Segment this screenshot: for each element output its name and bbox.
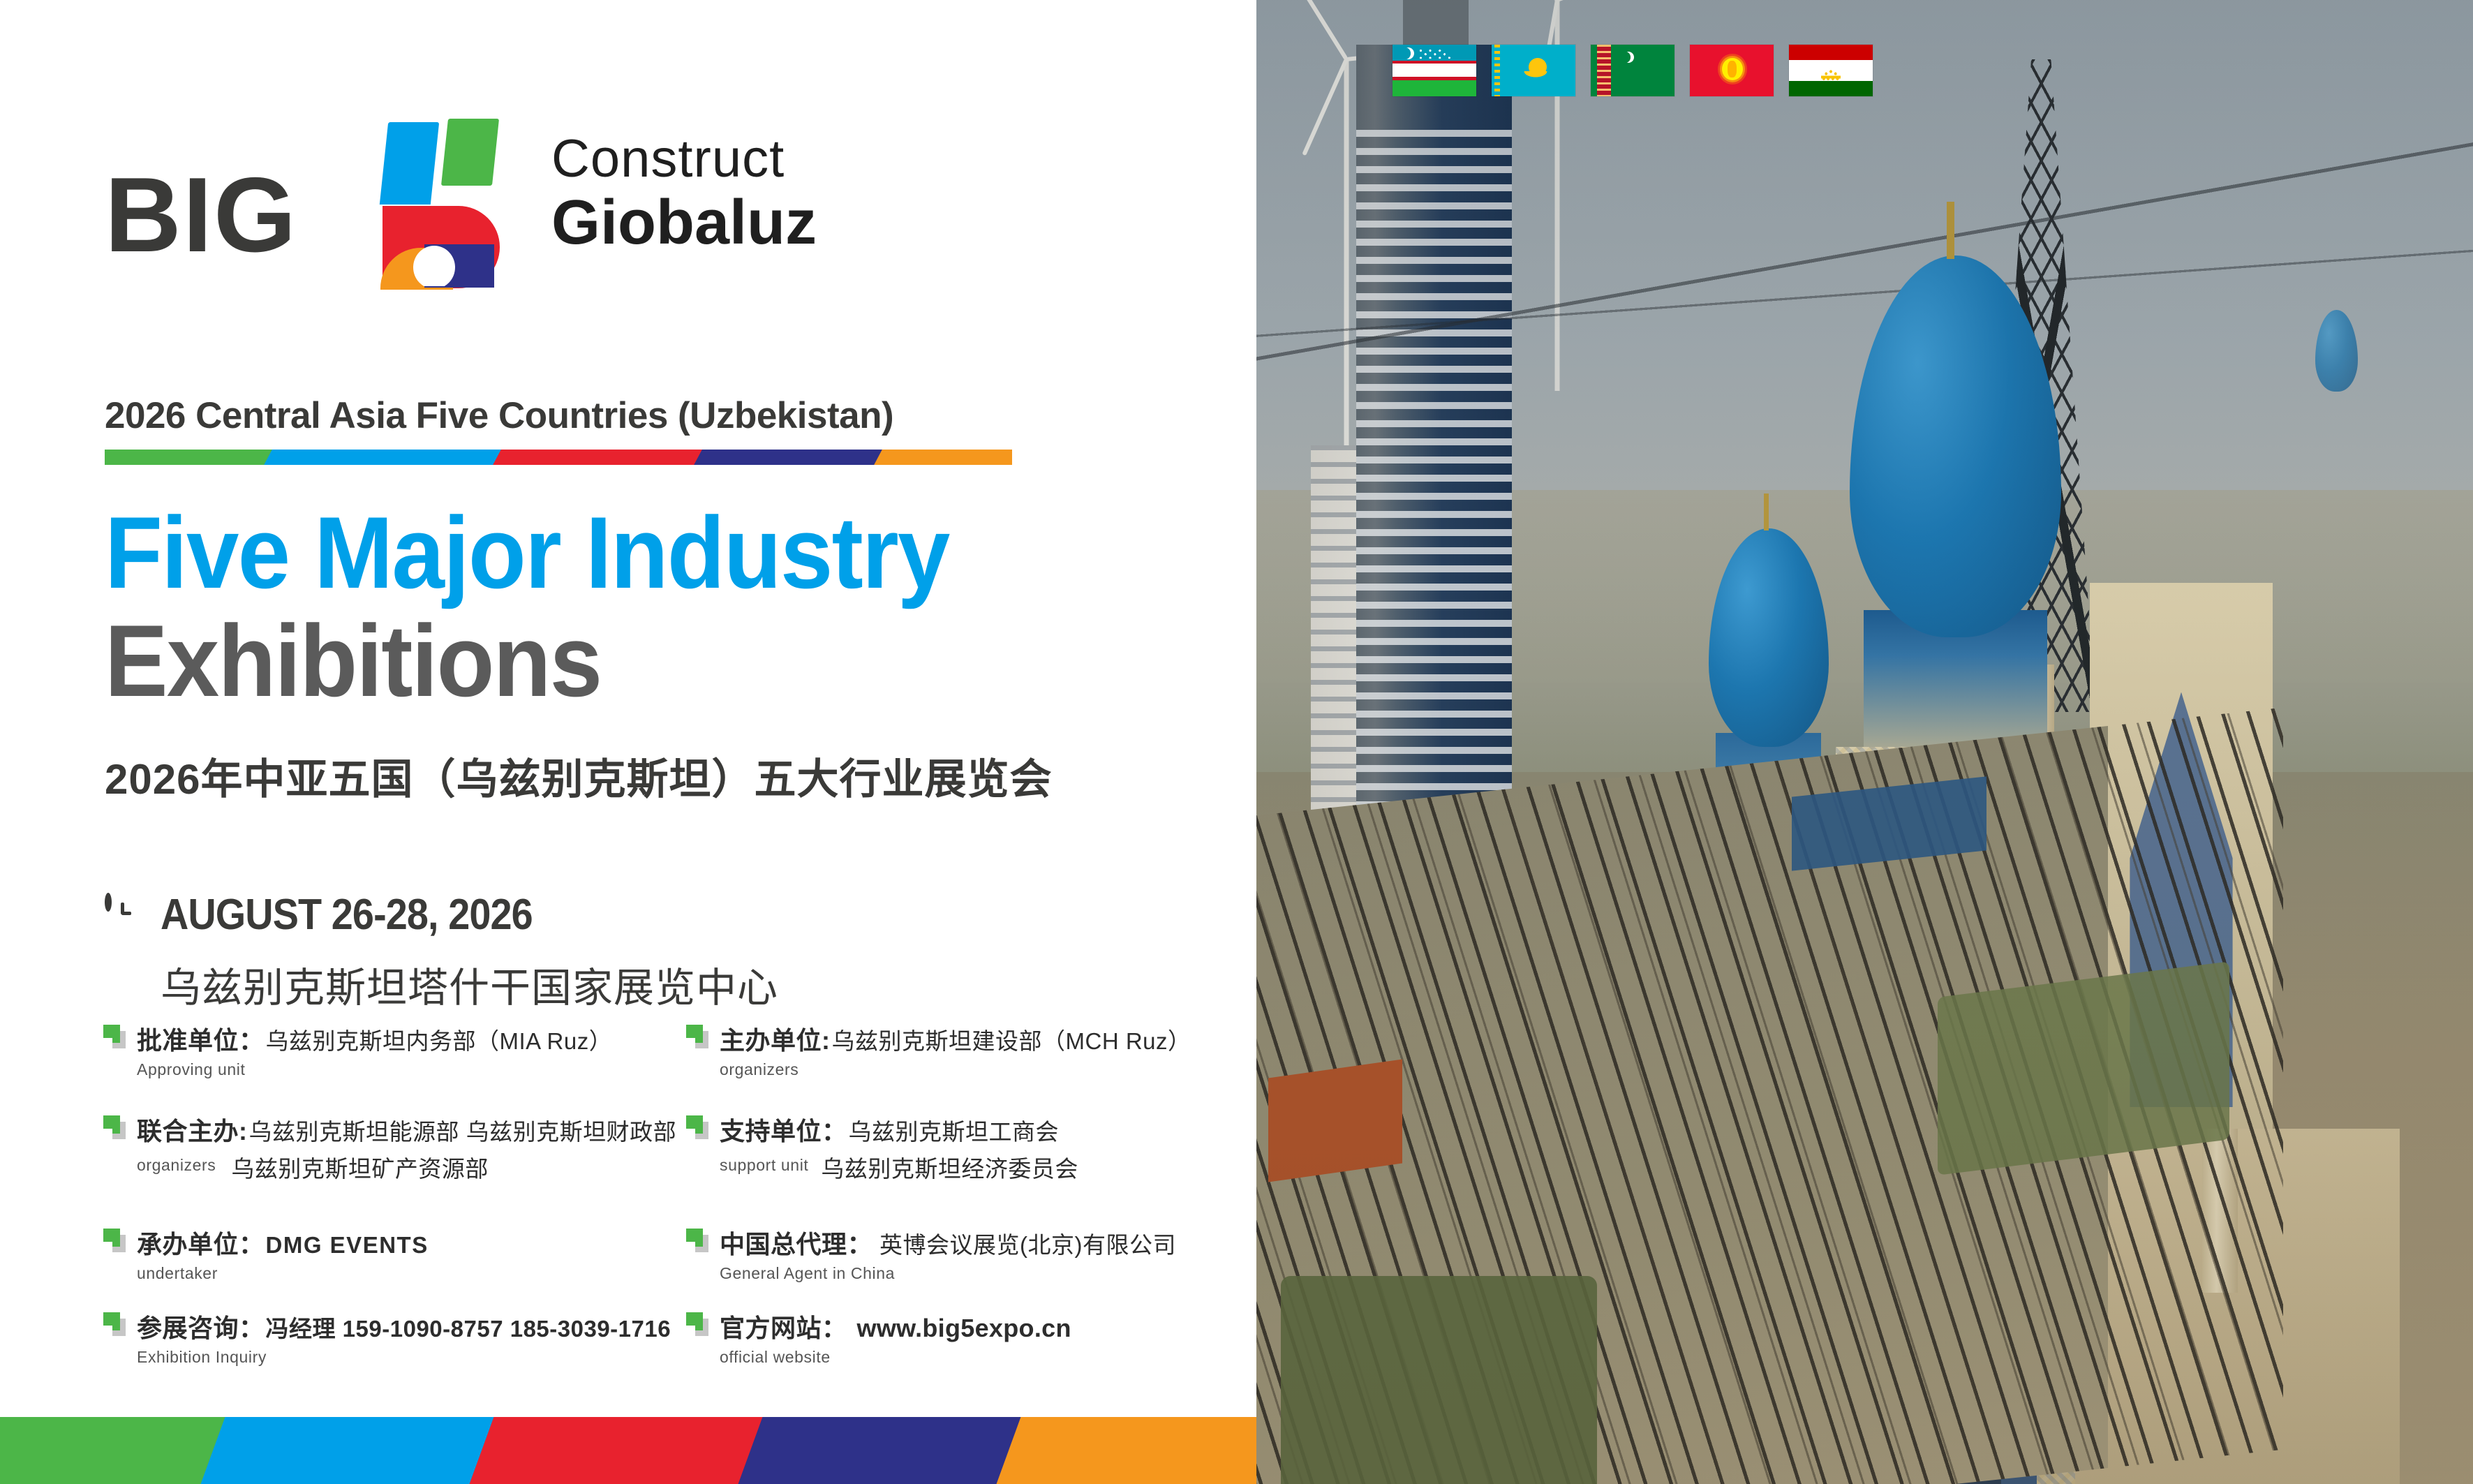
logo-wordmark: BIG [105, 162, 297, 268]
info-label-en: official website [720, 1348, 1071, 1367]
logo-five-numeral-icon [363, 119, 513, 290]
event-date-row: AUGUST 26-28, 2026 [105, 890, 1082, 940]
info-label-en: organizers [137, 1150, 216, 1184]
info-value: 乌兹别克斯坦建设部（MCH Ruz） [832, 1023, 1191, 1056]
info-row-joint-organizers: 联合主办: 乌兹别克斯坦能源部 乌兹别克斯坦财政部 organizers 乌兹别… [103, 1111, 676, 1184]
info-label: 联合主办: [137, 1111, 248, 1148]
bullet-square-icon [103, 1115, 126, 1139]
country-flags-row [1393, 45, 1873, 96]
info-label-en: undertaker [137, 1264, 429, 1283]
turkmenistan-flag [1591, 45, 1674, 96]
info-value-second-line: 乌兹别克斯坦经济委员会 [821, 1150, 1078, 1184]
headline-chinese: 2026年中亚五国（乌兹别克斯坦）五大行业展览会 [105, 745, 1194, 806]
bullet-square-icon [686, 1312, 708, 1336]
clock-icon [105, 896, 142, 934]
logo-five-blue-shape [380, 122, 439, 205]
info-row-exhibition-inquiry[interactable]: 参展咨询： 冯经理 159-1090-8757 185-3039-1716 Ex… [103, 1308, 671, 1367]
eyebrow-title: 2026 Central Asia Five Countries (Uzbeki… [105, 394, 1194, 437]
info-value: 乌兹别克斯坦内务部（MIA Ruz） [266, 1023, 613, 1056]
logo-globaluz-text: Giobaluz [551, 190, 817, 256]
tashkent-cityscape-photo [1256, 0, 2473, 1484]
info-value-second-line: 乌兹别克斯坦矿产资源部 [231, 1150, 489, 1184]
info-label: 主办单位: [720, 1021, 831, 1057]
event-venue: 乌兹别克斯坦塔什干国家展览中心 [161, 955, 778, 1014]
info-label: 参展咨询： [137, 1308, 265, 1344]
logo-five-counter [413, 246, 455, 289]
info-row-general-agent: 中国总代理： 英博会议展览(北京)有限公司 General Agent in C… [686, 1224, 1176, 1283]
logo-construct-text: Construct [551, 131, 817, 187]
uzbekistan-flag [1393, 45, 1476, 96]
poster-root: BIG Construct Giobaluz 2026 Central Asia… [0, 0, 2473, 1484]
event-venue-row: 乌兹别克斯坦塔什干国家展览中心 [105, 955, 1082, 1014]
info-label: 承办单位： [137, 1224, 265, 1261]
info-label-en: organizers [720, 1060, 1191, 1079]
info-label-en: support unit [720, 1150, 808, 1184]
kyrgyzstan-flag [1690, 45, 1774, 96]
bullet-square-icon [103, 1312, 126, 1336]
bullet-square-icon [103, 1229, 126, 1252]
kazakhstan-flag [1492, 45, 1575, 96]
website-url-link[interactable]: www.big5expo.cn [857, 1314, 1071, 1343]
headline-block: 2026 Central Asia Five Countries (Uzbeki… [105, 394, 1194, 806]
info-value: 英博会议展览(北京)有限公司 [879, 1226, 1176, 1260]
info-row-organizers: 主办单位: 乌兹别克斯坦建设部（MCH Ruz） organizers [686, 1021, 1191, 1079]
logo-lockup-text: Construct Giobaluz [551, 131, 817, 255]
info-value: DMG EVENTS [266, 1232, 429, 1259]
headline-line-2: Exhibitions [105, 609, 1117, 713]
info-label-en: Approving unit [137, 1060, 612, 1079]
info-value: 乌兹别克斯坦工商会 [849, 1113, 1060, 1147]
bullet-square-icon [686, 1229, 708, 1252]
info-label-en: General Agent in China [720, 1264, 1176, 1283]
info-value: 乌兹别克斯坦能源部 乌兹别克斯坦财政部 [249, 1113, 677, 1147]
logo-five-green-shape [441, 119, 499, 186]
bullet-square-icon [686, 1025, 708, 1048]
bullet-square-icon [103, 1025, 126, 1048]
event-details: AUGUST 26-28, 2026 乌兹别克斯坦塔什干国家展览中心 [105, 890, 1082, 1014]
info-label: 支持单位： [720, 1111, 847, 1148]
event-date: AUGUST 26-28, 2026 [161, 890, 533, 940]
info-value-phone[interactable]: 冯经理 159-1090-8757 185-3039-1716 [266, 1310, 671, 1344]
info-row-undertaker: 承办单位： DMG EVENTS undertaker [103, 1224, 429, 1283]
photo-overlay [1256, 0, 2473, 1484]
info-row-support-unit: 支持单位： 乌兹别克斯坦工商会 support unit 乌兹别克斯坦经济委员会 [686, 1111, 1078, 1184]
info-label: 官方网站： [720, 1308, 847, 1344]
brand-color-rule [105, 450, 1012, 465]
info-label: 批准单位： [137, 1021, 265, 1057]
hero-photo-pane [1256, 0, 2473, 1484]
brand-logo: BIG Construct Giobaluz [105, 119, 907, 293]
bullet-square-icon [686, 1115, 708, 1139]
info-row-official-website[interactable]: 官方网站： www.big5expo.cn official website [686, 1308, 1071, 1367]
left-content-pane: BIG Construct Giobaluz 2026 Central Asia… [0, 0, 1256, 1484]
location-pin-icon [105, 965, 142, 1003]
headline-line-1: Five Major Industry [105, 501, 1117, 605]
tajikistan-flag [1789, 45, 1873, 96]
info-row-approving-unit: 批准单位： 乌兹别克斯坦内务部（MIA Ruz） Approving unit [103, 1021, 612, 1079]
info-label: 中国总代理： [720, 1224, 872, 1261]
info-label-en: Exhibition Inquiry [137, 1348, 671, 1367]
bottom-color-bar [0, 1417, 1256, 1484]
